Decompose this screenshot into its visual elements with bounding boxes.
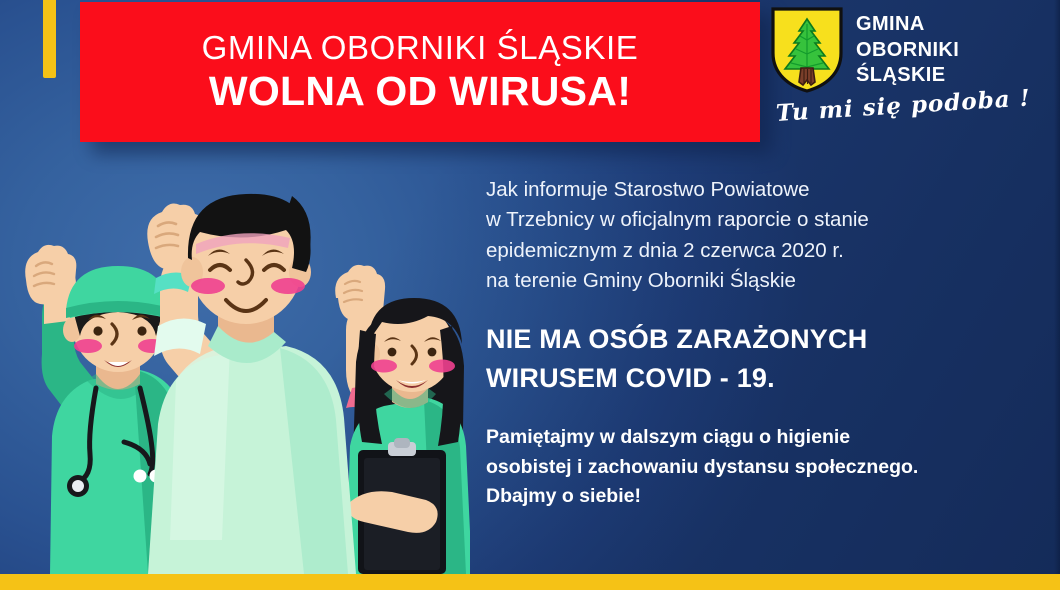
intro-line-2: w Trzebnicy w oficjalnym raporcie o stan… [486,205,1046,235]
outro-line-1: Pamiętajmy w dalszym ciągu o higienie [486,423,1046,453]
headline-banner: GMINA OBORNIKI ŚLĄSKIE WOLNA OD WIRUSA! [80,2,760,142]
headline-line-1: NIE MA OSÓB ZARAŻONYCH [486,320,1046,358]
fir-tree-shield-crest-icon [770,6,844,94]
logo-name-line-2: OBORNIKI [856,38,959,64]
figure-nurse-right [335,265,470,574]
logo-name-line-1: GMINA [856,12,959,38]
intro-line-4: na terenie Gminy Oborniki Śląskie [486,266,1046,296]
message-column: Jak informuje Starostwo Powiatowe w Trze… [486,175,1046,512]
logo-name-line-3: ŚLĄSKIE [856,63,959,89]
figure-man-center [147,194,356,574]
poster-root: GMINA OBORNIKI ŚLĄSKIE WOLNA OD WIRUSA! [0,0,1060,590]
intro-paragraph: Jak informuje Starostwo Powiatowe w Trze… [486,175,1046,296]
closing-paragraph: Pamiętajmy w dalszym ciągu o higienie os… [486,423,1046,512]
medical-workers-illustration [0,174,470,574]
outro-line-3: Dbajmy o siebie! [486,482,1046,512]
outro-line-2: osobistej i zachowaniu dystansu społeczn… [486,453,1046,483]
right-edge-shade [1054,0,1060,574]
banner-line-1: GMINA OBORNIKI ŚLĄSKIE [202,30,639,66]
intro-line-3: epidemicznym z dnia 2 czerwca 2020 r. [486,236,1046,266]
logo-wordmark: GMINA OBORNIKI ŚLĄSKIE [856,12,959,89]
yellow-accent-bar-bottom [0,574,1060,590]
headline-line-2: WIRUSEM COVID - 19. [486,359,1046,397]
intro-line-1: Jak informuje Starostwo Powiatowe [486,175,1046,205]
banner-line-2: WOLNA OD WIRUSA! [209,69,631,114]
municipality-logo: GMINA OBORNIKI ŚLĄSKIE Tu mi się podoba … [770,6,1050,146]
main-headline: NIE MA OSÓB ZARAŻONYCH WIRUSEM COVID - 1… [486,320,1046,397]
yellow-accent-bar-top-left [43,0,56,78]
